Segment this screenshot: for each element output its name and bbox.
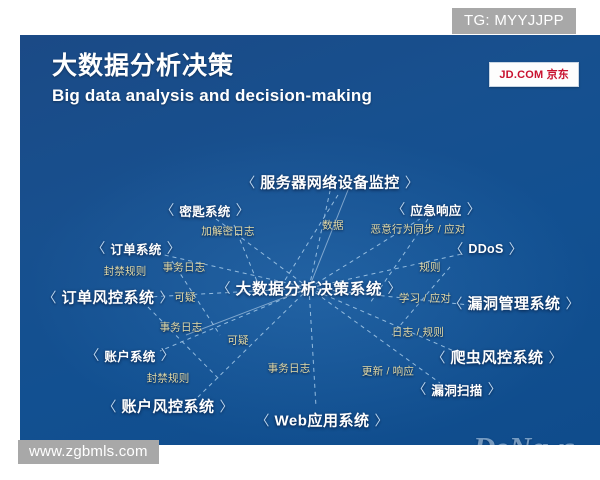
diagram-node-ddos[interactable]: 〈DDoS〉 [449, 239, 522, 259]
bracket-left-icon: 〈 [85, 345, 99, 365]
bracket-left-icon: 〈 [412, 379, 426, 399]
bracket-left-icon: 〈 [217, 278, 231, 298]
edge-label-account-center: 事务日志 [160, 320, 203, 335]
bracket-right-icon: 〉 [566, 293, 580, 313]
bracket-right-icon: 〉 [467, 199, 481, 219]
bracket-left-icon: 〈 [449, 239, 463, 259]
presentation-slide: 大数据分析决策 Big data analysis and decision-m… [20, 35, 600, 445]
bracket-left-icon: 〈 [42, 287, 56, 307]
bracket-left-icon: 〈 [241, 172, 255, 192]
edge-label-vulmgmt-center: 学习 / 应对 [399, 291, 451, 306]
diagram-node-label: 应急响应 [410, 200, 461, 219]
diagram-node-webapp[interactable]: 〈Web应用系统〉 [256, 410, 389, 431]
bracket-left-icon: 〈 [102, 396, 116, 416]
diagram-node-keysys[interactable]: 〈密匙系统〉 [160, 200, 249, 220]
diagram-node-center[interactable]: 〈大数据分析决策系统〉 [217, 277, 402, 299]
diagram-node-crawler[interactable]: 〈爬虫风控系统〉 [431, 347, 562, 368]
jd-brand-logo: JD.COM 京东 [489, 62, 579, 87]
diagram-node-label: 漏洞扫描 [431, 380, 482, 399]
slide-header: 大数据分析决策 Big data analysis and decision-m… [52, 53, 372, 106]
diagram-node-label: Web应用系统 [275, 410, 370, 431]
edge-label-server-center: 数据 [322, 218, 343, 233]
bracket-right-icon: 〉 [488, 379, 502, 399]
diagram-node-label: 漏洞管理系统 [467, 293, 560, 314]
diagram-node-label: 大数据分析决策系统 [236, 277, 383, 299]
telegram-watermark: TG: MYYJJPP [452, 8, 576, 34]
site-watermark: www.zgbmls.com [18, 440, 159, 464]
diagram-node-acctrc[interactable]: 〈账户风控系统〉 [102, 396, 233, 417]
diagram-node-orderrc[interactable]: 〈订单风控系统〉 [42, 287, 173, 308]
edge-label-account-center: 可疑 [227, 333, 248, 348]
bracket-right-icon: 〉 [405, 172, 419, 192]
diagram-node-order[interactable]: 〈订单系统〉 [91, 238, 180, 258]
bracket-right-icon: 〉 [374, 410, 388, 430]
edge-label-ddos-center: 规则 [419, 260, 440, 275]
edge-label-webapp-center: 事务日志 [268, 361, 311, 376]
bracket-right-icon: 〉 [236, 200, 250, 220]
bracket-right-icon: 〉 [549, 347, 563, 367]
edge-label-keysys-center: 加解密日志 [201, 224, 255, 239]
bracket-left-icon: 〈 [160, 200, 174, 220]
diagram-node-label: 账户系统 [104, 346, 155, 365]
diagram-node-label: 爬虫风控系统 [450, 347, 543, 368]
diagram-node-label: 服务器网络设备监控 [260, 172, 400, 193]
bracket-left-icon: 〈 [256, 410, 270, 430]
edge-label-order-center: 封禁规则 [104, 264, 147, 279]
bracket-left-icon: 〈 [391, 199, 405, 219]
bracket-right-icon: 〉 [161, 345, 175, 365]
bracket-right-icon: 〉 [160, 287, 174, 307]
diagram-node-vulmgmt[interactable]: 〈漏洞管理系统〉 [448, 293, 579, 314]
diagram-node-label: 订单系统 [110, 239, 161, 258]
bracket-right-icon: 〉 [220, 396, 234, 416]
edge-label-emerg-center: 恶意行为同步 / 应对 [371, 222, 466, 237]
diagram-node-vulscan[interactable]: 〈漏洞扫描〉 [412, 379, 501, 399]
diagram-node-label: 密匙系统 [179, 201, 230, 220]
page-title-cn: 大数据分析决策 [52, 53, 372, 81]
bracket-right-icon: 〉 [509, 239, 523, 259]
edge-label-crawler-center: 日志 / 规则 [392, 325, 444, 340]
edge-label-orderrc-center: 可疑 [174, 290, 195, 305]
edge-label-acctrc-center: 封禁规则 [147, 371, 190, 386]
bracket-left-icon: 〈 [431, 347, 445, 367]
diagram-node-label: DDoS [468, 242, 503, 256]
edge-label-order-center: 事务日志 [163, 260, 206, 275]
diagram-node-label: 订单风控系统 [61, 287, 154, 308]
page-title-en: Big data analysis and decision-making [52, 86, 372, 106]
diagram-node-label: 账户风控系统 [121, 396, 214, 417]
screenshot-root: 大数据分析决策 Big data analysis and decision-m… [0, 0, 600, 480]
diagram-node-emerg[interactable]: 〈应急响应〉 [391, 199, 480, 219]
diagram-node-server[interactable]: 〈服务器网络设备监控〉 [241, 172, 419, 193]
bracket-right-icon: 〉 [167, 238, 181, 258]
edge-label-vulscan-center: 更新 / 响应 [362, 364, 414, 379]
diagram-node-account[interactable]: 〈账户系统〉 [85, 345, 174, 365]
bracket-left-icon: 〈 [91, 238, 105, 258]
